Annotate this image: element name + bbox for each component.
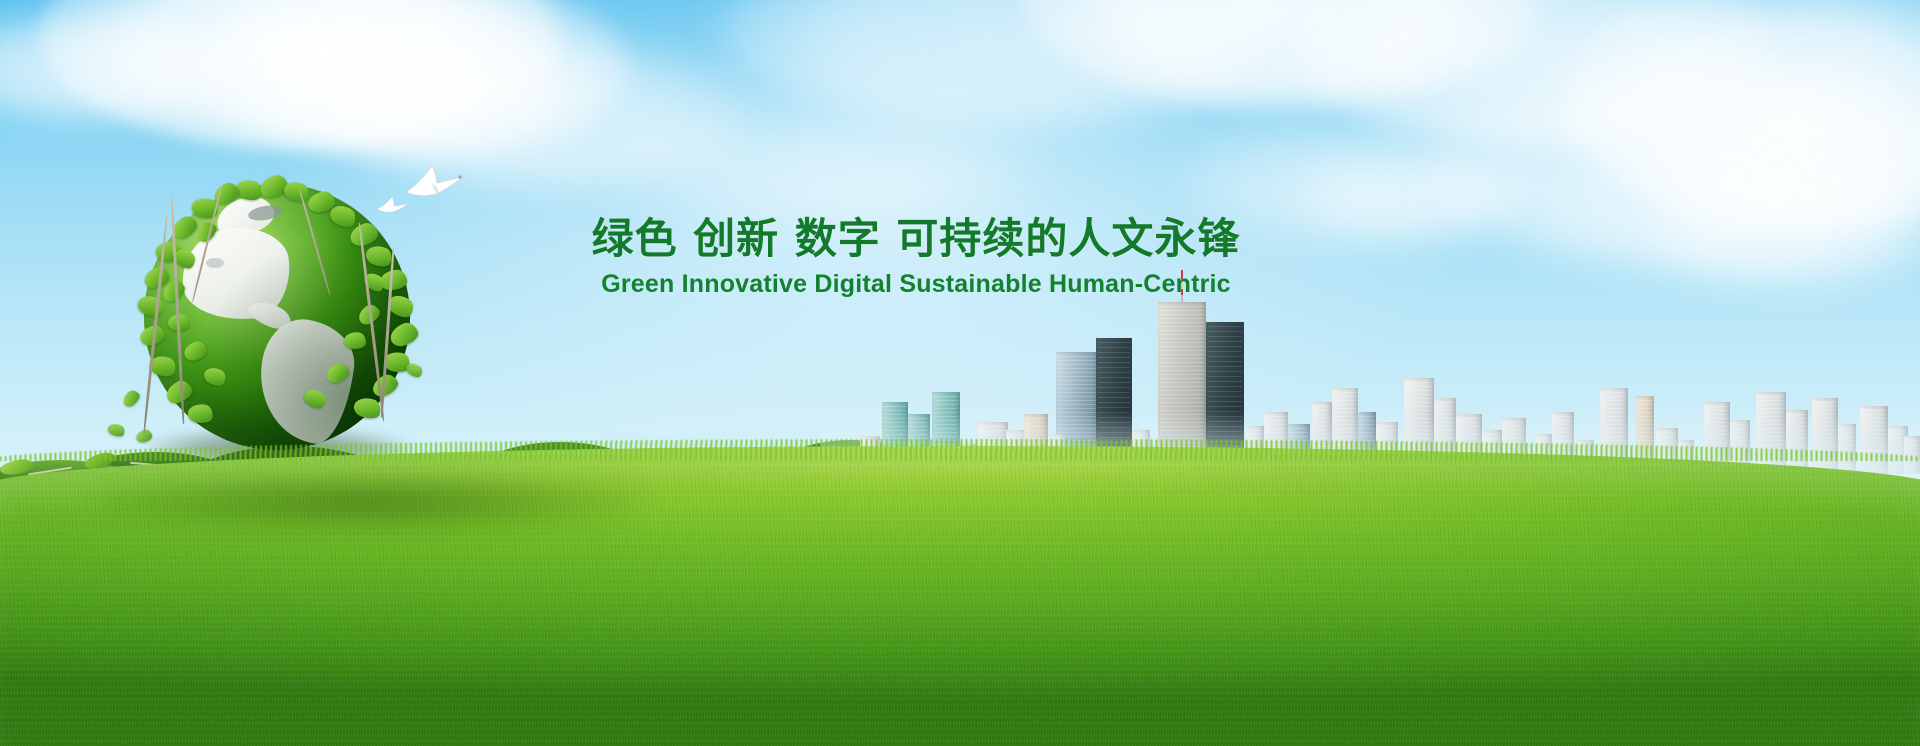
grass-field	[0, 446, 1920, 746]
globe-cast-shadow	[100, 472, 640, 532]
headline-chinese: 绿色 创新 数字 可持续的人文永锋	[556, 216, 1276, 261]
eco-banner: 绿色 创新 数字 可持续的人文永锋 Green Innovative Digit…	[0, 0, 1920, 746]
headline-english: Green Innovative Digital Sustainable Hum…	[556, 270, 1276, 299]
headline-block: 绿色 创新 数字 可持续的人文永锋 Green Innovative Digit…	[556, 216, 1276, 299]
